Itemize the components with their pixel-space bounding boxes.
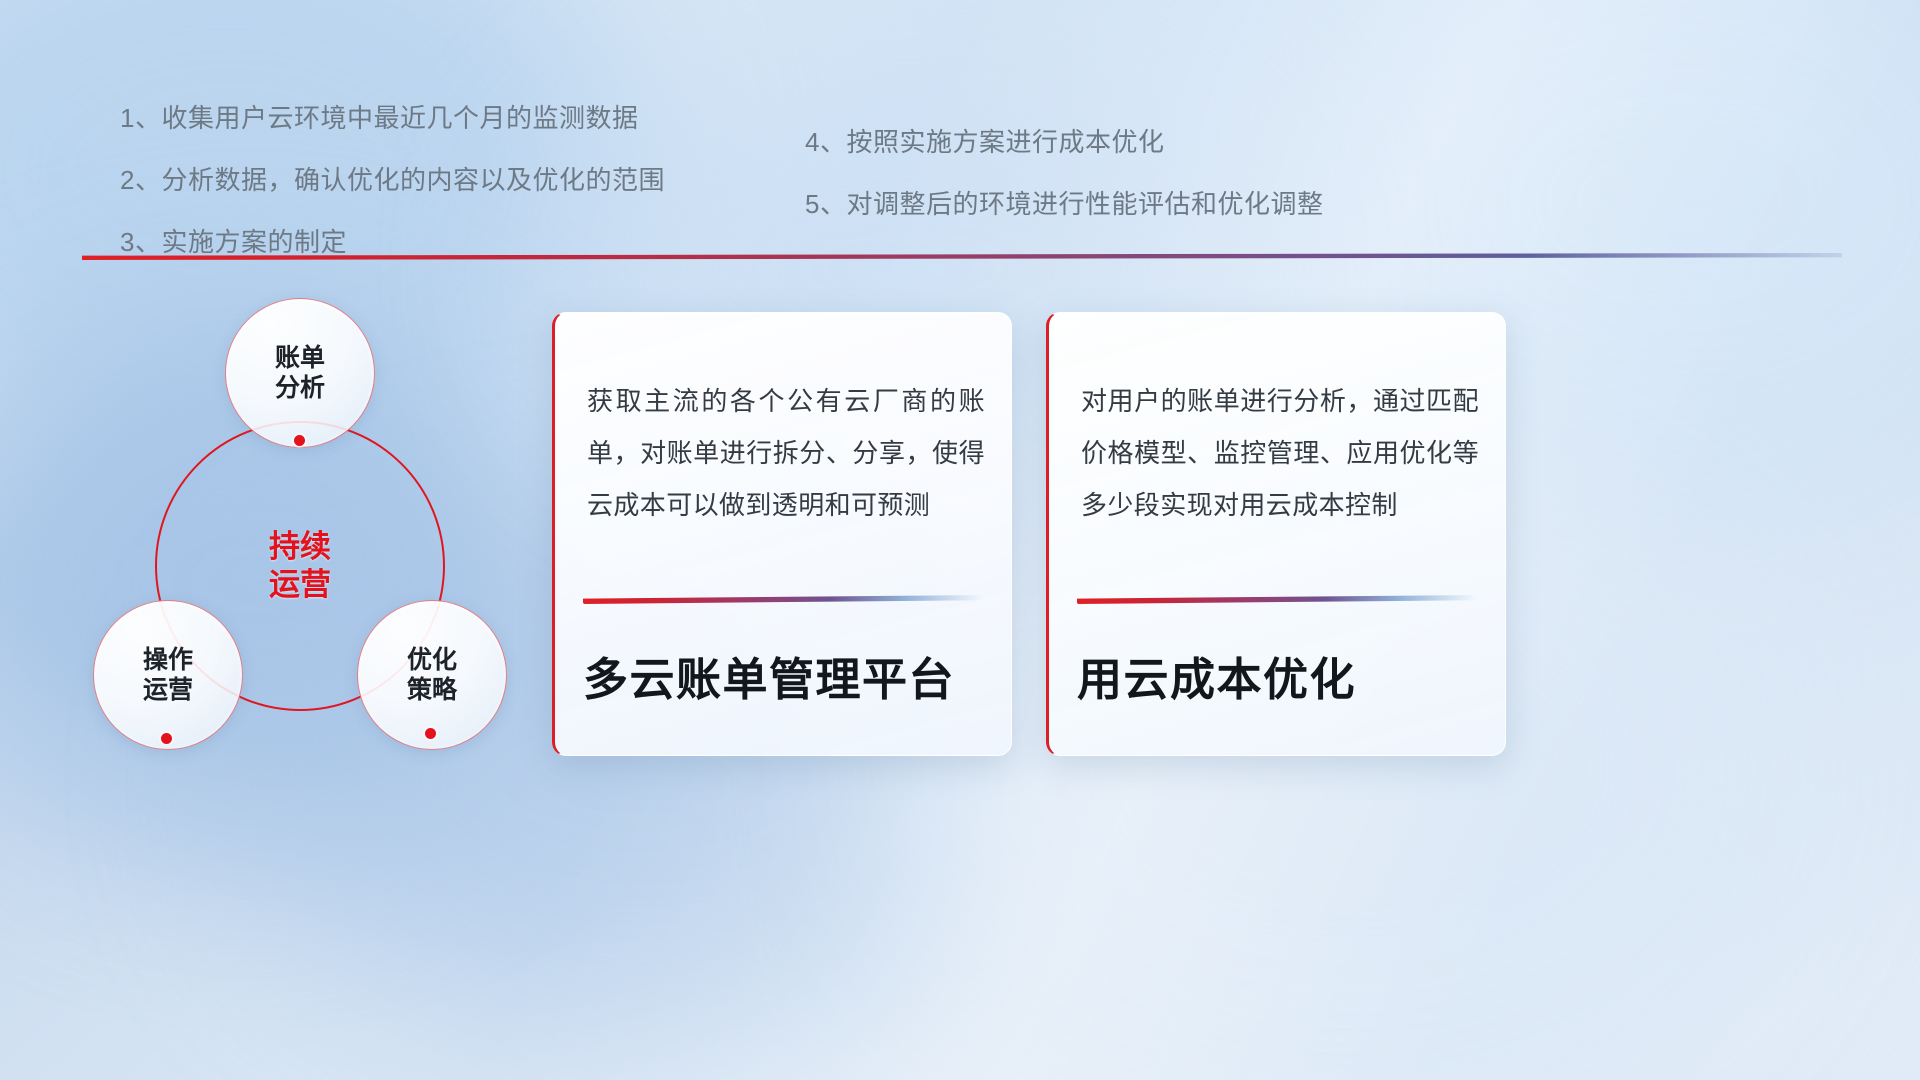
- steps-list-right: 4、按照实施方案进行成本优化 5、对调整后的环境进行性能评估和优化调整: [805, 122, 1323, 246]
- info-card-multicloud-billing[interactable]: 获取主流的各个公有云厂商的账单，对账单进行拆分、分享，使得云成本可以做到透明和可…: [552, 312, 1012, 756]
- divider-bar: [82, 253, 1842, 260]
- venn-diagram: 持续 运营 账单 分析 操作 运营 优化 策略: [85, 288, 545, 768]
- card-divider: [1077, 595, 1477, 604]
- step-item: 5、对调整后的环境进行性能评估和优化调整: [805, 184, 1323, 221]
- step-item: 2、分析数据，确认优化的内容以及优化的范围: [120, 160, 665, 197]
- card-title: 用云成本优化: [1077, 643, 1485, 708]
- bubble-top-line2: 分析: [275, 373, 325, 404]
- card-title: 多云账单管理平台: [583, 643, 991, 708]
- center-label: 持续 运营: [155, 421, 445, 711]
- card-divider: [583, 595, 983, 604]
- step-item: 4、按照实施方案进行成本优化: [805, 122, 1323, 159]
- node-dot-icon: [161, 733, 172, 744]
- node-dot-icon: [425, 728, 436, 739]
- card-body-text: 对用户的账单进行分析，通过匹配价格模型、监控管理、应用优化等多少段实现对用云成本…: [1081, 375, 1479, 531]
- center-label-line1: 持续: [269, 528, 331, 566]
- step-item: 1、收集用户云环境中最近几个月的监测数据: [120, 98, 665, 135]
- center-label-line2: 运营: [269, 566, 331, 604]
- info-card-cloud-cost-optimization[interactable]: 对用户的账单进行分析，通过匹配价格模型、监控管理、应用优化等多少段实现对用云成本…: [1046, 312, 1506, 756]
- node-dot-icon: [294, 435, 305, 446]
- slide-content: 1、收集用户云环境中最近几个月的监测数据 2、分析数据，确认优化的内容以及优化的…: [0, 0, 1920, 1080]
- section-divider: [82, 253, 1842, 260]
- bubble-top-line1: 账单: [275, 343, 325, 374]
- card-body-text: 获取主流的各个公有云厂商的账单，对账单进行拆分、分享，使得云成本可以做到透明和可…: [587, 375, 985, 531]
